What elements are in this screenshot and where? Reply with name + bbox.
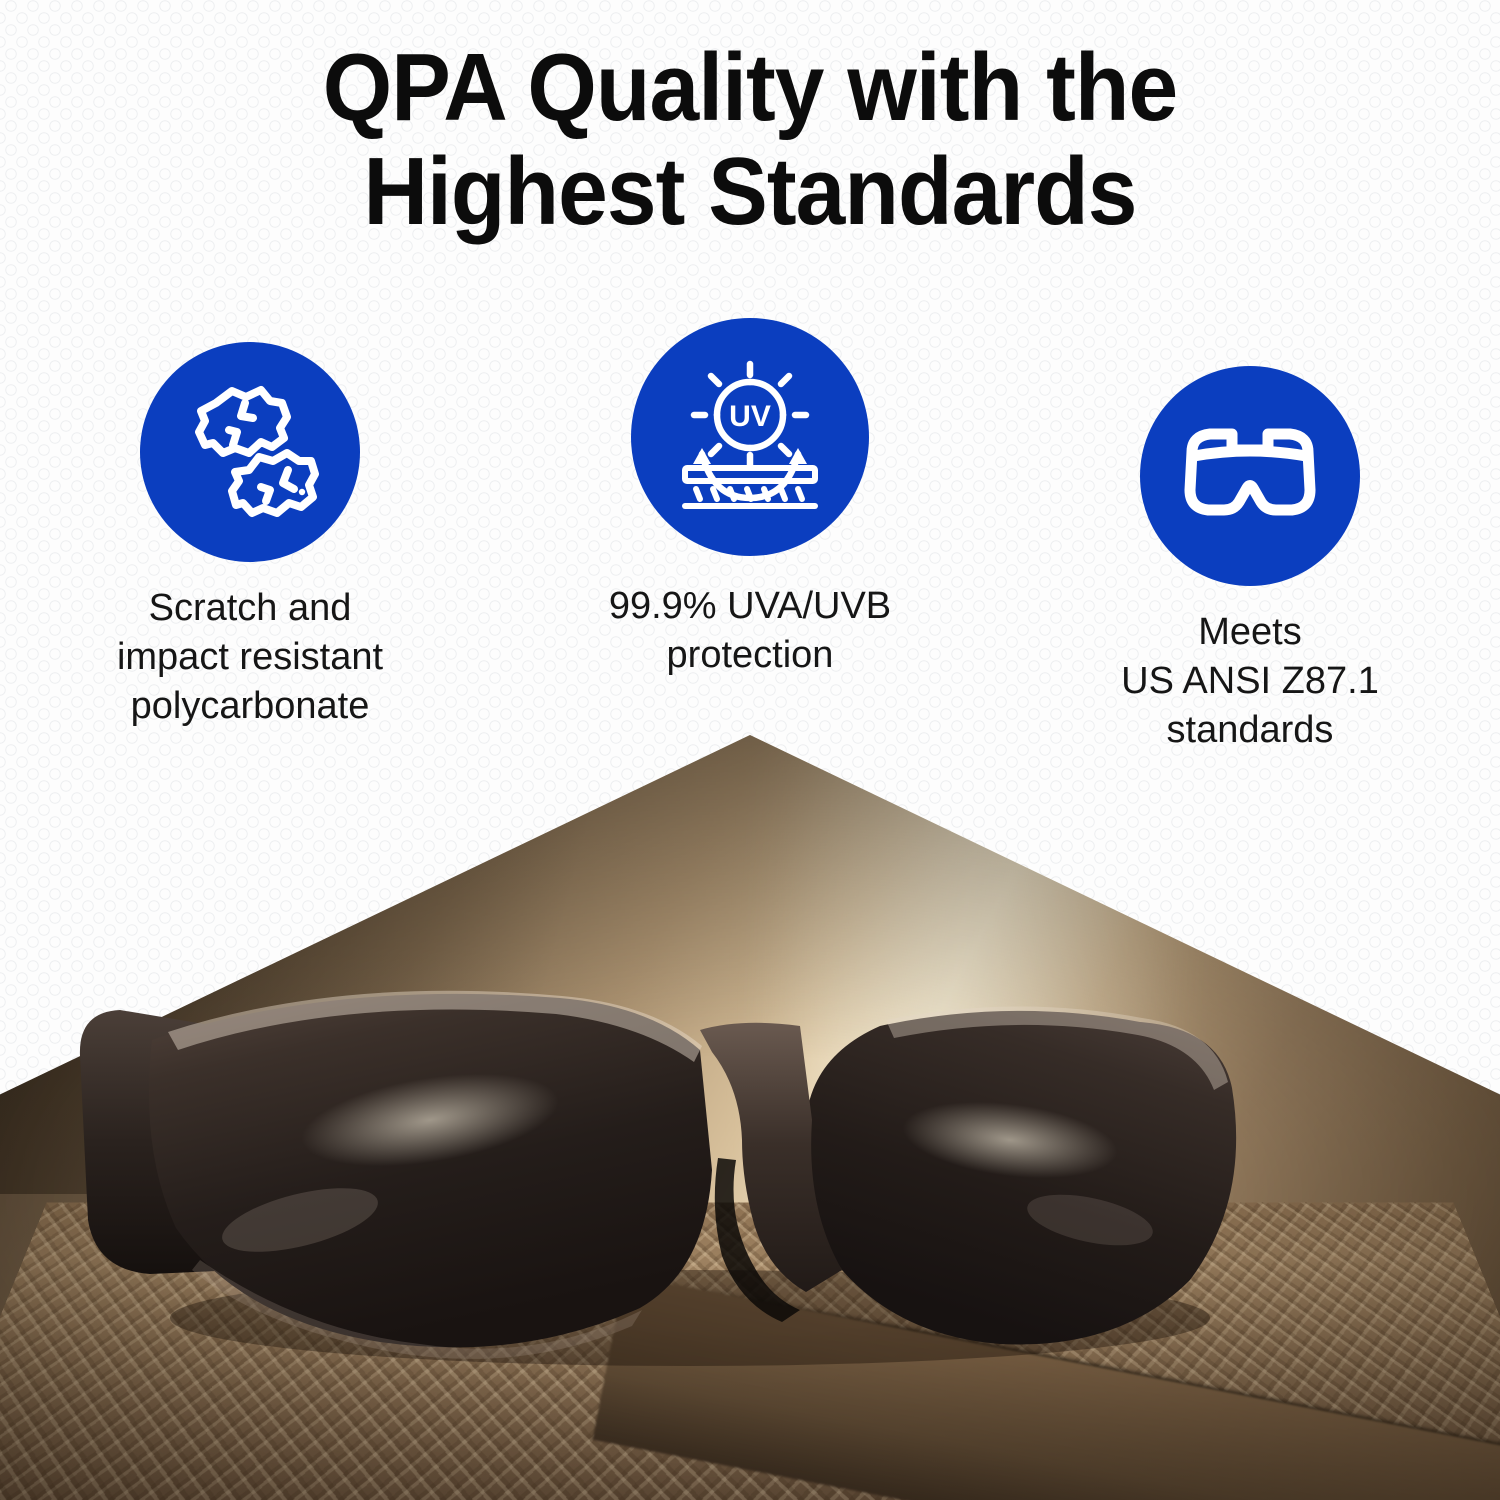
product-photo-triangle-mask xyxy=(0,735,1500,1500)
feature-badge-3 xyxy=(1140,366,1360,586)
feature-caption-3: Meets US ANSI Z87.1 standards xyxy=(1121,608,1379,755)
page-title: QPA Quality with the Highest Standards xyxy=(0,36,1500,244)
infographic-canvas: QPA Quality with the Highest Standards xyxy=(0,0,1500,1500)
feature-badge-2: UV xyxy=(631,318,869,556)
feature-item-uv-protection: UV xyxy=(500,318,1000,755)
feature-caption-1: Scratch and impact resistant polycarbona… xyxy=(117,584,383,731)
feature-badge-1 xyxy=(140,342,360,562)
feature-list: Scratch and impact resistant polycarbona… xyxy=(0,318,1500,755)
headline-line-1: QPA Quality with the xyxy=(53,36,1448,140)
feature-caption-2: 99.9% UVA/UVB protection xyxy=(609,582,891,680)
feature-item-scratch-resistant: Scratch and impact resistant polycarbona… xyxy=(0,318,500,755)
uv-icon-label: UV xyxy=(729,400,771,433)
product-photo xyxy=(0,735,1500,1500)
headline-line-2: Highest Standards xyxy=(53,140,1448,244)
scratch-resistant-rocks-icon xyxy=(175,377,325,527)
feature-item-ansi-standards: Meets US ANSI Z87.1 standards xyxy=(1000,318,1500,755)
photo-vignette xyxy=(0,735,1500,1500)
safety-goggles-icon xyxy=(1172,412,1328,540)
uv-protection-icon: UV xyxy=(669,356,831,518)
